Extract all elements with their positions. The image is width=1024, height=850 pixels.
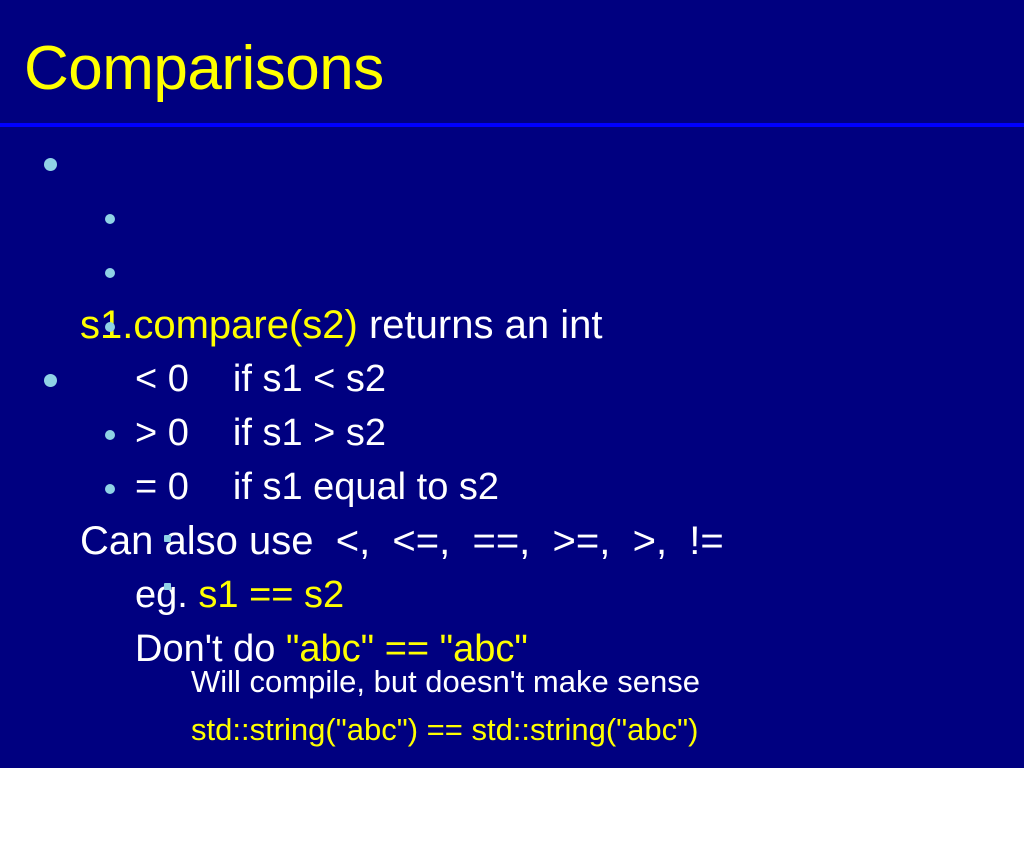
bullet-item-level2: > 0if s1 > s2 xyxy=(0,244,1024,298)
bullet-dot-icon xyxy=(105,322,115,332)
bullet-item-level2: Don't do "abc" == "abc" xyxy=(0,460,1024,514)
page-title: Comparisons xyxy=(24,36,384,102)
bullet-square-icon xyxy=(164,535,171,542)
slide-body: s1.compare(s2) returns an int < 0if s1 <… xyxy=(0,136,1024,768)
slide-title-area: Comparisons xyxy=(0,0,1024,128)
bullet-square-icon xyxy=(164,583,171,590)
bullet-text: std::string("abc") == std::string("abc") xyxy=(0,706,1024,754)
title-divider xyxy=(0,123,1024,127)
bullet-dot-icon xyxy=(44,158,57,171)
bullet-dot-icon xyxy=(105,214,115,224)
bullet-dot-icon xyxy=(44,374,57,387)
bullet-item-level1: Can also use <, <=, ==, >=, >, != xyxy=(0,352,1024,406)
bullet-dot-icon xyxy=(105,484,115,494)
bullet-item-level1: s1.compare(s2) returns an int xyxy=(0,136,1024,190)
bullet-dot-icon xyxy=(105,268,115,278)
bullet-item-level2: = 0if s1 equal to s2 xyxy=(0,298,1024,352)
bullet-item-level3: std::string("abc") == std::string("abc") xyxy=(0,562,1024,610)
bullet-dot-icon xyxy=(105,430,115,440)
presentation-slide: Comparisons s1.compare(s2) returns an in… xyxy=(0,0,1024,768)
bullet-item-level3: Will compile, but doesn't make sense xyxy=(0,514,1024,562)
bullet-item-level2: < 0if s1 < s2 xyxy=(0,190,1024,244)
bullet-item-level2: eg. s1 == s2 xyxy=(0,406,1024,460)
